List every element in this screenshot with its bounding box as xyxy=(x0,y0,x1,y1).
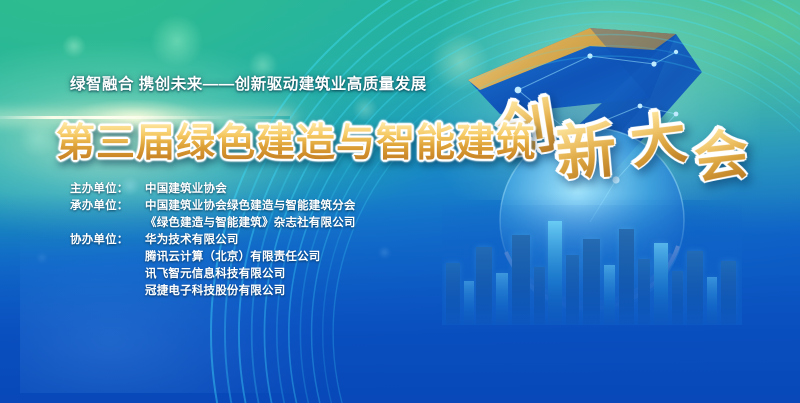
poster-main-title: 第三届绿色建造与智能建筑 xyxy=(56,112,536,168)
bokeh-circle xyxy=(62,34,86,58)
organizer-label: 承办单位： xyxy=(70,197,145,213)
organizer-label: 协办单位： xyxy=(70,231,145,247)
organizer-value: 中国建筑业协会绿色建造与智能建筑分会 xyxy=(145,197,356,213)
organizer-row: 协办单位： 冠捷电子科技股份有限公司 xyxy=(70,282,356,298)
conference-poster: 创 新 大 会 绿智融合 携创未来——创新驱动建筑业高质量发展 第三届绿色建造与… xyxy=(0,0,800,403)
bokeh-circle xyxy=(378,246,391,259)
calligraphy-char-xin: 新 xyxy=(552,102,619,194)
organizer-value: 《绿色建造与智能建筑》杂志社有限公司 xyxy=(145,214,356,230)
city-haze-overlay xyxy=(442,205,742,325)
organizer-row: 承办单位： 《绿色建造与智能建筑》杂志社有限公司 xyxy=(70,214,356,230)
organizer-row: 协办单位： 华为技术有限公司 xyxy=(70,231,356,247)
organizer-row: 承办单位： 中国建筑业协会绿色建造与智能建筑分会 xyxy=(70,197,356,213)
bokeh-circle xyxy=(150,14,204,68)
calligraphy-char-da: 大 xyxy=(625,93,690,180)
poster-subtitle: 绿智融合 携创未来——创新驱动建筑业高质量发展 xyxy=(70,72,427,94)
city-skyline xyxy=(442,205,742,325)
organizer-row: 协办单位： 腾讯云计算（北京）有限责任公司 xyxy=(70,248,356,264)
organizer-value: 讯飞智元信息科技有限公司 xyxy=(145,265,285,281)
bokeh-circle xyxy=(18,118,58,158)
bokeh-circle xyxy=(430,32,490,92)
organizer-value: 腾讯云计算（北京）有限责任公司 xyxy=(145,248,321,264)
organizer-value: 冠捷电子科技股份有限公司 xyxy=(145,282,285,298)
glow-top-right xyxy=(430,0,760,200)
organizer-row: 协办单位： 讯飞智元信息科技有限公司 xyxy=(70,265,356,281)
organizer-row: 主办单位： 中国建筑业协会 xyxy=(70,180,356,196)
numeral-three-graphic xyxy=(440,0,760,354)
calligraphy-char-hui: 会 xyxy=(690,109,752,193)
organizer-value: 中国建筑业协会 xyxy=(145,180,227,196)
bokeh-circle xyxy=(36,252,48,264)
numeral-three-svg xyxy=(440,0,760,354)
organizer-label: 主办单位： xyxy=(70,180,145,196)
organizer-list: 主办单位： 中国建筑业协会 承办单位： 中国建筑业协会绿色建造与智能建筑分会 承… xyxy=(70,180,356,299)
organizer-value: 华为技术有限公司 xyxy=(145,231,239,247)
